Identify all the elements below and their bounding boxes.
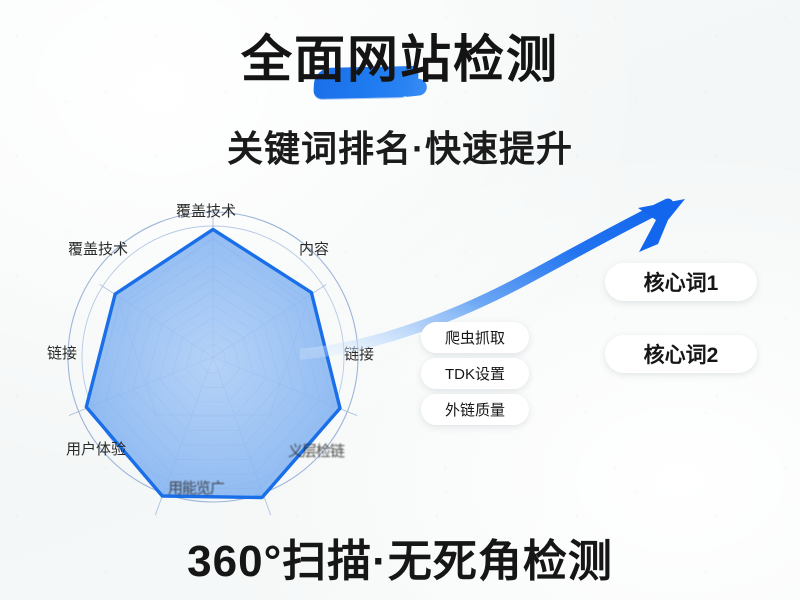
keyword-pill-2-label: 核心词2	[644, 339, 719, 369]
main-title-text: 全面网站检测	[241, 31, 559, 88]
arrow-head	[638, 199, 685, 252]
radar-label-lower-left: 用户体验	[66, 438, 126, 459]
page-title: 全面网站检测	[0, 34, 800, 85]
tag-backlink-quality[interactable]: 外链质量	[421, 394, 529, 425]
radar-label-upper-left: 覆盖技术	[68, 238, 128, 259]
keyword-pill-2[interactable]: 核心词2	[605, 335, 757, 373]
tag-crawler[interactable]: 爬虫抓取	[421, 322, 529, 353]
radar-label-bottom: 用能览广	[168, 477, 224, 498]
keyword-pill-1-label: 核心词1	[644, 267, 719, 297]
tag-crawler-label: 爬虫抓取	[445, 327, 505, 348]
page-subtitle: 关键词排名·快速提升	[0, 120, 800, 172]
main-title: 全面网站检测	[241, 34, 559, 85]
footer-tagline: 360°扫描·无死角检测	[0, 525, 800, 589]
tag-backlink-quality-label: 外链质量	[445, 399, 505, 420]
radar-label-lower-right: 义层检链	[288, 440, 344, 461]
radar-label-left: 链接	[47, 342, 77, 363]
keyword-pill-1[interactable]: 核心词1	[605, 263, 757, 301]
tag-tdk-label: TDK设置	[445, 363, 505, 384]
radar-label-top: 覆盖技术	[176, 200, 236, 221]
tag-tdk[interactable]: TDK设置	[421, 358, 529, 389]
